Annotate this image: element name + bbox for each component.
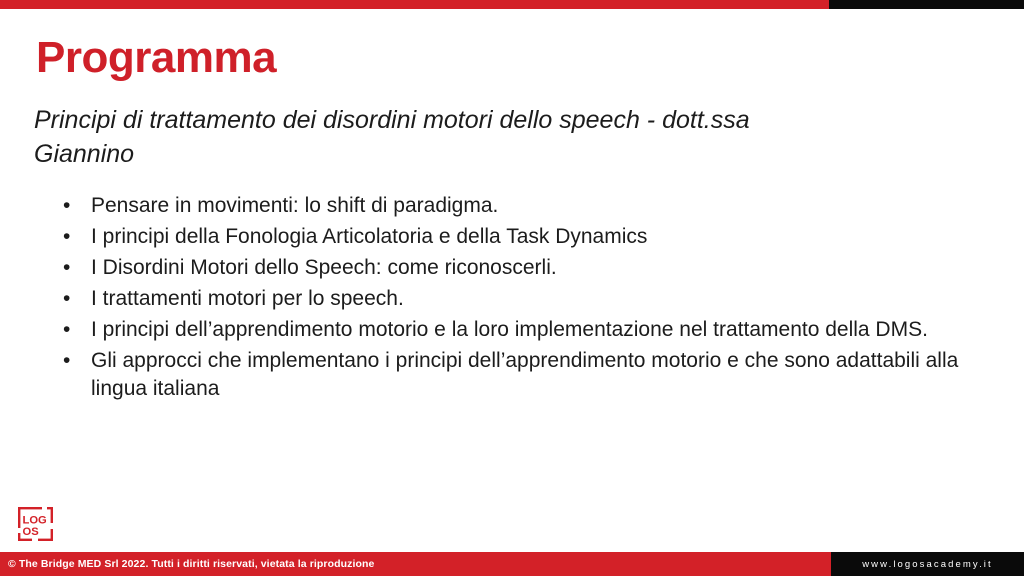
top-accent-bar (0, 0, 1024, 9)
bullet-marker-icon: • (63, 347, 70, 375)
list-item: • I Disordini Motori dello Speech: come … (58, 254, 978, 282)
slide: Programma Principi di trattamento dei di… (0, 0, 1024, 576)
list-item-label: I principi dell’apprendimento motorio e … (91, 318, 928, 341)
footer-website-region: www.logosacademy.it (831, 552, 1024, 576)
website-url[interactable]: www.logosacademy.it (862, 559, 993, 570)
list-item-label: I principi della Fonologia Articolatoria… (91, 225, 647, 248)
svg-text:LOG: LOG (23, 515, 48, 527)
page-subtitle: Principi di trattamento dei disordini mo… (34, 103, 824, 171)
footer-copyright-region: © The Bridge MED Srl 2022. Tutti i dirit… (0, 552, 831, 576)
list-item: • I principi dell’apprendimento motorio … (58, 316, 978, 344)
bullet-marker-icon: • (63, 223, 70, 251)
list-item-label: Pensare in movimenti: lo shift di paradi… (91, 194, 498, 217)
list-item: • Pensare in movimenti: lo shift di para… (58, 192, 978, 220)
list-item: • I principi della Fonologia Articolator… (58, 223, 978, 251)
copyright-text: © The Bridge MED Srl 2022. Tutti i dirit… (0, 558, 374, 570)
top-accent-bar-red (0, 0, 829, 9)
list-item: • Gli approcci che implementano i princi… (58, 347, 978, 403)
bullet-marker-icon: • (63, 316, 70, 344)
list-item-label: Gli approcci che implementano i principi… (91, 349, 958, 400)
list-item: • I trattamenti motori per lo speech. (58, 285, 978, 313)
logos-brand-logo-icon: LOG OS (17, 506, 54, 542)
bullet-marker-icon: • (63, 285, 70, 313)
top-accent-bar-black (829, 0, 1024, 9)
bullet-marker-icon: • (63, 192, 70, 220)
list-item-label: I trattamenti motori per lo speech. (91, 287, 404, 310)
page-title: Programma (36, 34, 276, 82)
svg-text:OS: OS (23, 526, 40, 538)
footer-bar: © The Bridge MED Srl 2022. Tutti i dirit… (0, 552, 1024, 576)
bullet-marker-icon: • (63, 254, 70, 282)
bullet-list: • Pensare in movimenti: lo shift di para… (58, 192, 978, 405)
list-item-label: I Disordini Motori dello Speech: come ri… (91, 256, 557, 279)
